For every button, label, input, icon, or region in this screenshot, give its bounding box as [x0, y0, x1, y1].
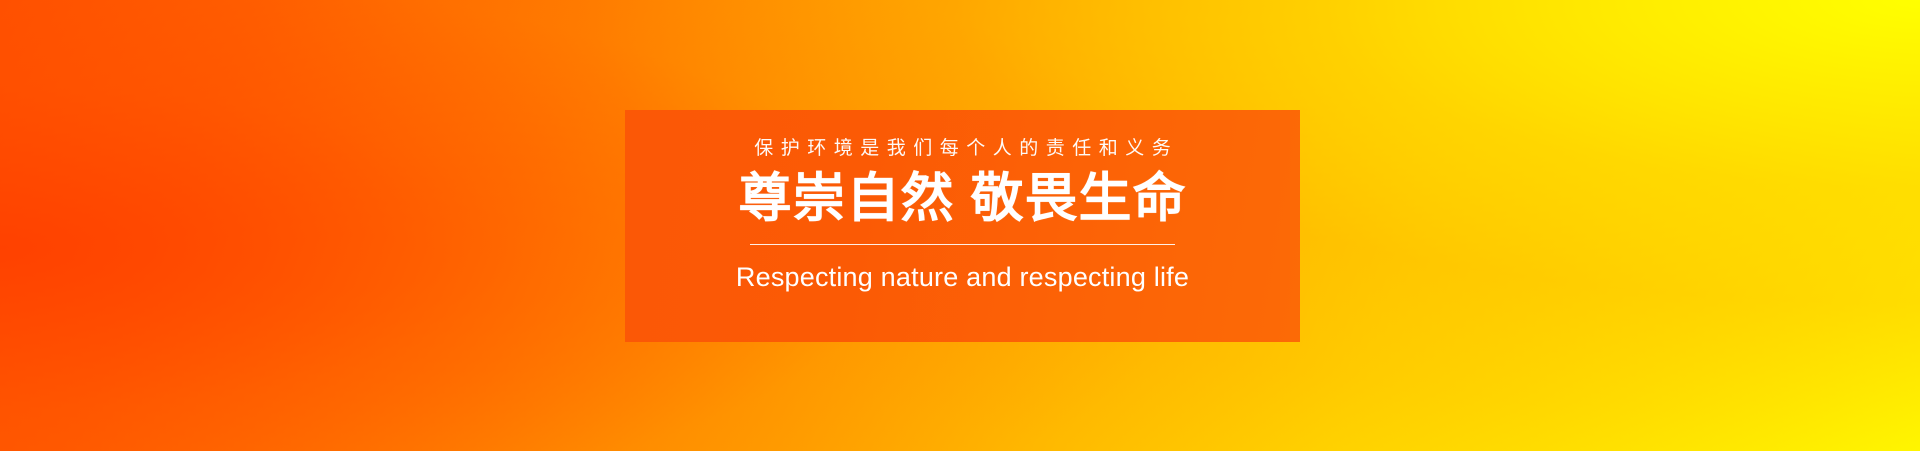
banner-image: 保护环境是我们每个人的责任和义务 尊崇自然敬畏生命 Respecting nat… [0, 0, 1920, 451]
headline-right-phrase: 敬畏生命 [971, 169, 1187, 228]
headline-left-phrase: 尊崇自然 [739, 169, 955, 228]
divider-rule [750, 244, 1175, 245]
slogan-panel: 保护环境是我们每个人的责任和义务 尊崇自然敬畏生命 Respecting nat… [625, 110, 1300, 342]
tagline-text: 保护环境是我们每个人的责任和义务 [747, 138, 1179, 161]
headline-text: 尊崇自然敬畏生命 [739, 168, 1187, 231]
subtitle-text: Respecting nature and respecting life [736, 261, 1189, 295]
